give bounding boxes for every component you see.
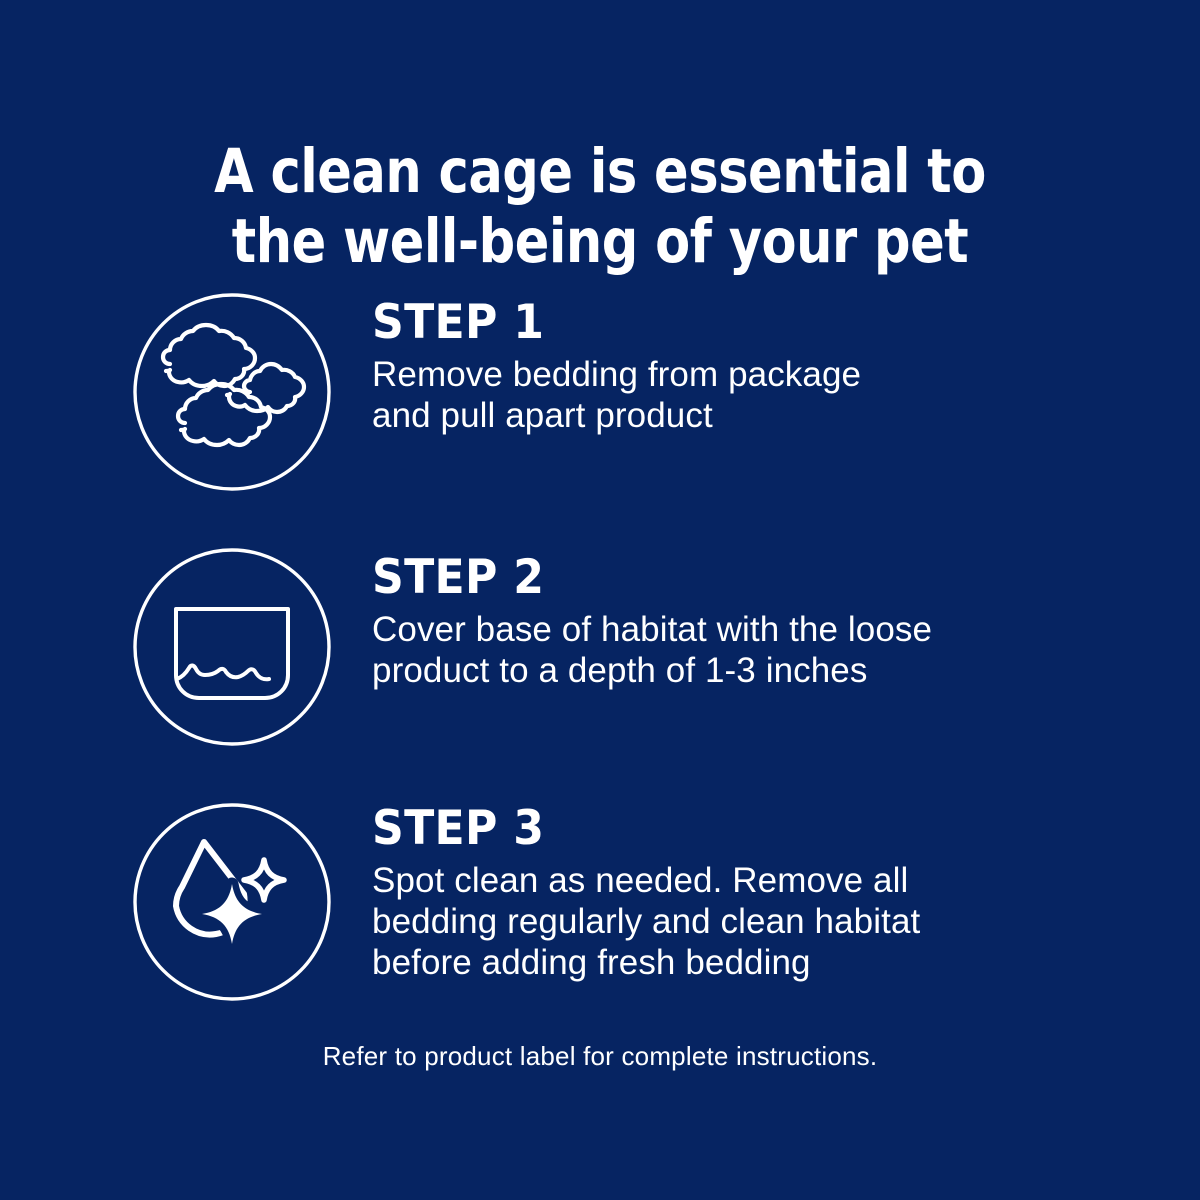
step-description: Spot clean as needed. Remove all bedding… [372,860,1162,983]
step-description-line: Spot clean as needed. Remove all [372,860,1162,901]
droplet-sparkle-icon [132,802,332,1002]
step-item: STEP 1 Remove bedding from package and p… [0,286,1200,541]
footer-disclaimer: Refer to product label for complete inst… [0,1040,1200,1072]
headline-line-2: the well-being of your pet [42,207,1158,277]
step-title: STEP 1 [372,298,544,348]
habitat-tub-icon [132,547,332,747]
step-text-block: STEP 2 Cover base of habitat with the lo… [372,553,1162,691]
step-item: STEP 2 Cover base of habitat with the lo… [0,541,1200,796]
steps-list: STEP 1 Remove bedding from package and p… [0,286,1200,1051]
step-text-block: STEP 1 Remove bedding from package and p… [372,298,1162,436]
step-description: Cover base of habitat with the loose pro… [372,609,1162,691]
step-item: STEP 3 Spot clean as needed. Remove all … [0,796,1200,1051]
step-title: STEP 2 [372,553,544,603]
step-title: STEP 3 [372,804,544,854]
step-description-line: Cover base of habitat with the loose [372,609,1162,650]
step-description: Remove bedding from package and pull apa… [372,354,1162,436]
step-description-line: before adding fresh bedding [372,942,1162,983]
step-description-line: and pull apart product [372,395,1162,436]
step-text-block: STEP 3 Spot clean as needed. Remove all … [372,804,1162,983]
headline-line-1: A clean cage is essential to [42,137,1158,207]
page-title: A clean cage is essential to the well-be… [0,137,1200,277]
step-description-line: bedding regularly and clean habitat [372,901,1162,942]
step-description-line: product to a depth of 1-3 inches [372,650,1162,691]
bedding-clouds-icon [132,292,332,492]
step-description-line: Remove bedding from package [372,354,1162,395]
instructions-poster: A clean cage is essential to the well-be… [0,0,1200,1200]
